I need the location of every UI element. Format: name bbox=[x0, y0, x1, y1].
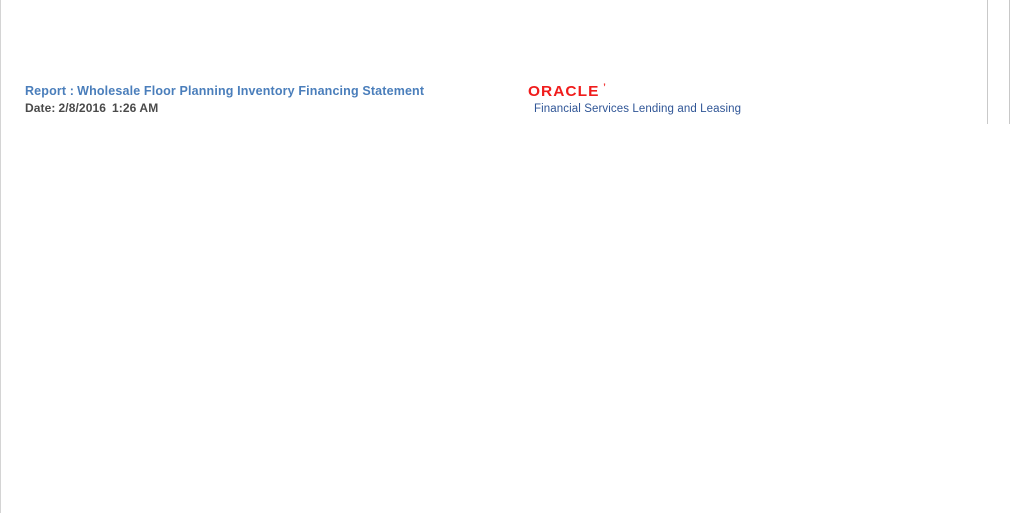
report-title-line: Report :Wholesale Floor Planning Invento… bbox=[25, 84, 424, 99]
report-label: Report : bbox=[25, 84, 74, 98]
report-body bbox=[1, 124, 1010, 513]
time-value: 1:26 AM bbox=[112, 101, 158, 115]
oracle-tagline: Financial Services Lending and Leasing bbox=[534, 102, 758, 116]
oracle-logo: ORACLE ’ Financial Services Lending and … bbox=[528, 83, 758, 116]
page-title: Wholesale Floor Planning Inventory Finan… bbox=[77, 84, 424, 98]
trademark-icon: ’ bbox=[603, 83, 606, 92]
date-value: 2/8/2016 bbox=[59, 101, 107, 115]
report-page: Report :Wholesale Floor Planning Invento… bbox=[0, 0, 1010, 513]
report-meta-block: Report :Wholesale Floor Planning Invento… bbox=[25, 84, 424, 116]
report-date-line: Date:2/8/20161:26 AM bbox=[25, 101, 424, 116]
oracle-wordmark-text: ORACLE ’ bbox=[528, 84, 599, 100]
oracle-wordmark-label: ORACLE bbox=[528, 83, 599, 100]
report-header: Report :Wholesale Floor Planning Invento… bbox=[1, 84, 1010, 116]
date-label: Date: bbox=[25, 101, 56, 115]
